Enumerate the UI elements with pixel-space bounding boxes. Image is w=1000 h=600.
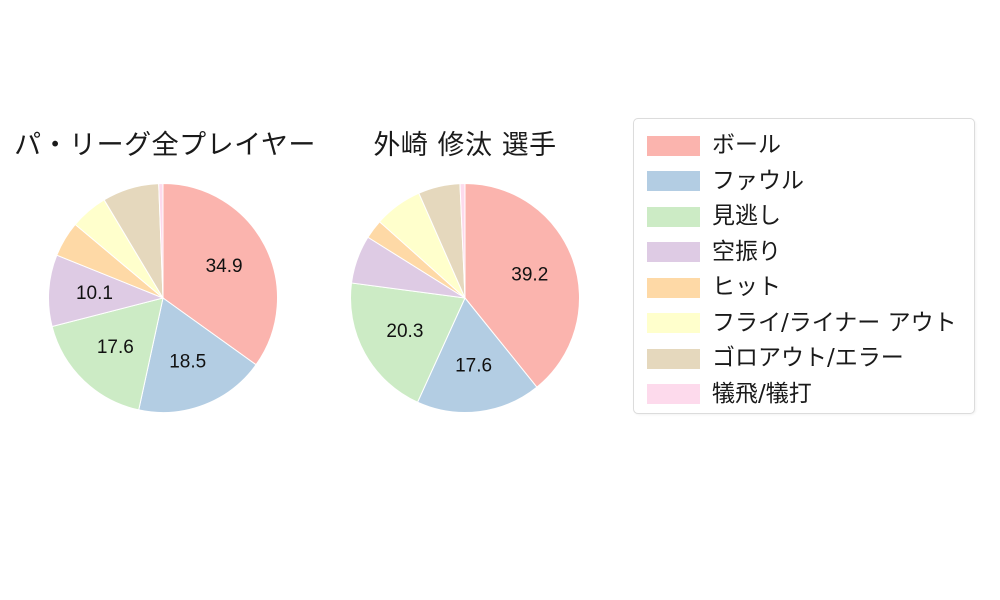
pie-slice-value-label: 10.1 [76,283,113,304]
legend-swatch [647,384,700,404]
legend-label: 見逃し [712,205,781,228]
pie-chart-1-title: パ・リーグ全プレイヤー [10,123,320,162]
pie-slice-value-label: 39.2 [511,265,548,286]
pie-slice-value-label: 20.3 [386,321,423,342]
legend-item[interactable]: 見逃し [634,199,974,235]
pie-chart-1: 34.918.517.610.1 [48,183,278,413]
pie-slice-value-label: 34.9 [206,256,243,277]
legend-label: ボール [712,134,781,157]
legend-swatch [647,171,700,191]
legend-item[interactable]: 犠飛/犠打 [634,377,974,413]
pie-chart-2: 39.217.620.3 [350,183,580,413]
legend-swatch [647,242,700,262]
legend: ボールファウル見逃し空振りヒットフライ/ライナー アウトゴロアウト/エラー犠飛/… [633,118,975,414]
legend-item[interactable]: ゴロアウト/エラー [634,341,974,377]
pie-chart-2-title: 外崎 修汰 選手 [335,123,595,162]
legend-swatch [647,207,700,227]
legend-swatch [647,136,700,156]
pie-slice-value-label: 17.6 [455,356,492,377]
legend-label: 犠飛/犠打 [712,383,812,406]
legend-item[interactable]: フライ/ライナー アウト [634,306,974,342]
legend-label: ゴロアウト/エラー [712,347,904,370]
pie-slice-value-label: 18.5 [169,352,206,373]
legend-item[interactable]: ボール [634,128,974,164]
legend-item[interactable]: ファウル [634,164,974,200]
legend-label: ヒット [712,276,781,299]
legend-label: ファウル [712,170,804,193]
pie-slice-value-label: 17.6 [97,337,134,358]
legend-swatch [647,278,700,298]
legend-swatch [647,349,700,369]
legend-swatch [647,313,700,333]
legend-item[interactable]: 空振り [634,235,974,271]
legend-label: 空振り [712,241,781,264]
legend-label: フライ/ライナー アウト [712,312,957,335]
pie-chart-1-svg: 34.918.517.610.1 [48,183,278,413]
pie-chart-figure: パ・リーグ全プレイヤー 34.918.517.610.1 外崎 修汰 選手 39… [0,0,1000,600]
legend-item[interactable]: ヒット [634,270,974,306]
pie-chart-2-svg: 39.217.620.3 [350,183,580,413]
